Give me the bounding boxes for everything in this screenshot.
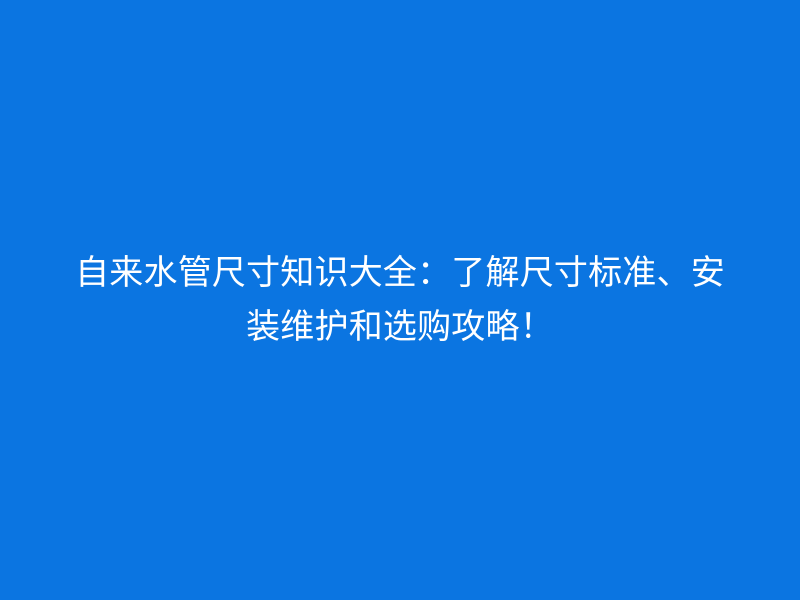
page-title: 自来水管尺寸知识大全：了解尺寸标准、安装维护和选购攻略！ bbox=[60, 246, 740, 354]
title-card: 自来水管尺寸知识大全：了解尺寸标准、安装维护和选购攻略！ bbox=[0, 0, 800, 600]
headline-block: 自来水管尺寸知识大全：了解尺寸标准、安装维护和选购攻略！ bbox=[50, 246, 750, 354]
